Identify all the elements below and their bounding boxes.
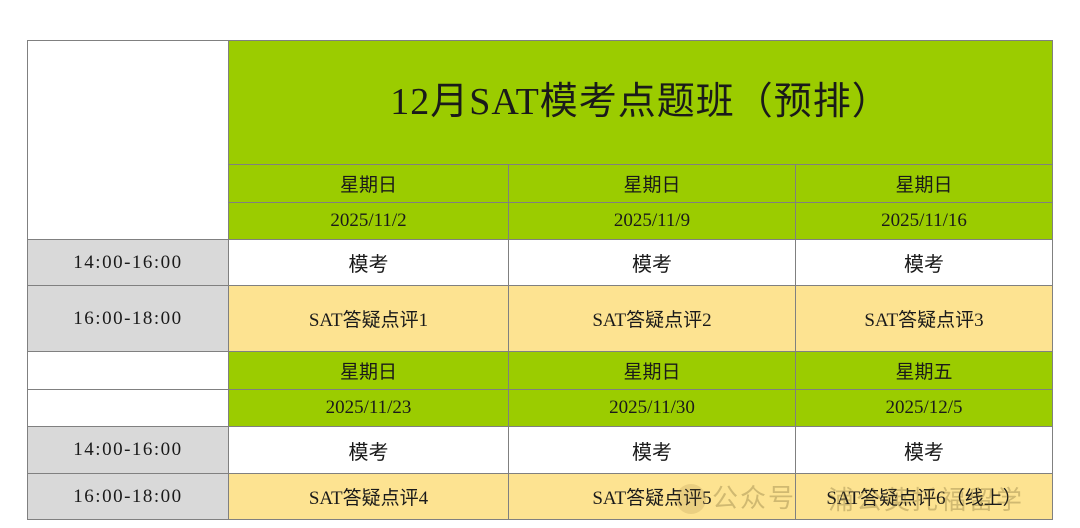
weekday-header-cell: 星期日	[229, 165, 509, 203]
session-cell: SAT答疑点评6（线上）	[796, 474, 1053, 520]
session-cell: 模考	[796, 240, 1053, 286]
weekday-header-cell: 星期日	[509, 165, 796, 203]
date-header-cell: 2025/11/2	[229, 203, 509, 240]
weekday-header-cell: 星期日	[229, 352, 509, 390]
corner-blank-cell	[28, 41, 229, 240]
table-row: 16:00-18:00 SAT答疑点评1 SAT答疑点评2 SAT答疑点评3	[28, 286, 1053, 352]
course-schedule-table: 12月SAT模考点题班（预排） 星期日 星期日 星期日 2025/11/2 20…	[27, 40, 1053, 520]
date-header-cell: 2025/11/23	[229, 390, 509, 427]
session-cell: 模考	[229, 240, 509, 286]
session-cell: 模考	[509, 240, 796, 286]
table-row: 16:00-18:00 SAT答疑点评4 SAT答疑点评5 SAT答疑点评6（线…	[28, 474, 1053, 520]
blank-spacer-cell	[28, 352, 229, 390]
date-header-row: 2025/11/23 2025/11/30 2025/12/5	[28, 390, 1053, 427]
time-slot-label: 14:00-16:00	[28, 427, 229, 474]
weekday-header-row: 星期日 星期日 星期五	[28, 352, 1053, 390]
session-cell: 模考	[229, 427, 509, 474]
table-row: 14:00-16:00 模考 模考 模考	[28, 427, 1053, 474]
weekday-header-cell: 星期五	[796, 352, 1053, 390]
page-title: 12月SAT模考点题班（预排）	[229, 41, 1053, 165]
session-cell: 模考	[796, 427, 1053, 474]
date-header-cell: 2025/11/16	[796, 203, 1053, 240]
weekday-header-cell: 星期日	[796, 165, 1053, 203]
session-cell: SAT答疑点评4	[229, 474, 509, 520]
table-title-row: 12月SAT模考点题班（预排）	[28, 41, 1053, 165]
session-cell: SAT答疑点评3	[796, 286, 1053, 352]
date-header-cell: 2025/11/9	[509, 203, 796, 240]
session-cell: SAT答疑点评1	[229, 286, 509, 352]
date-header-cell: 2025/11/30	[509, 390, 796, 427]
time-slot-label: 14:00-16:00	[28, 240, 229, 286]
time-slot-label: 16:00-18:00	[28, 474, 229, 520]
table-row: 14:00-16:00 模考 模考 模考	[28, 240, 1053, 286]
schedule-table-container: 12月SAT模考点题班（预排） 星期日 星期日 星期日 2025/11/2 20…	[27, 40, 1052, 500]
session-cell: SAT答疑点评2	[509, 286, 796, 352]
time-slot-label: 16:00-18:00	[28, 286, 229, 352]
session-cell: 模考	[509, 427, 796, 474]
blank-spacer-cell	[28, 390, 229, 427]
session-cell: SAT答疑点评5	[509, 474, 796, 520]
date-header-cell: 2025/12/5	[796, 390, 1053, 427]
weekday-header-cell: 星期日	[509, 352, 796, 390]
